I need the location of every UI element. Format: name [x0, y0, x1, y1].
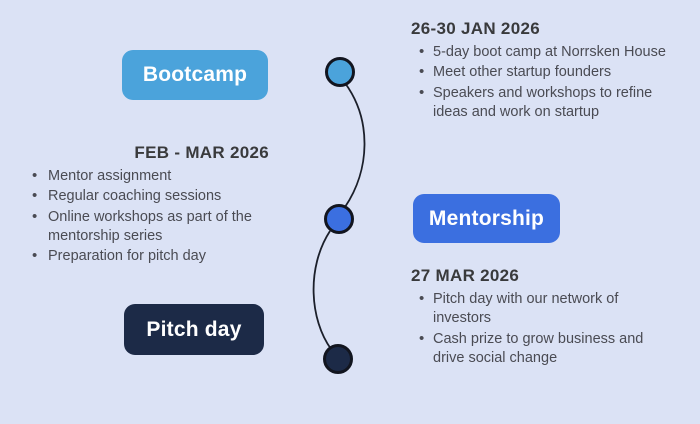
pitch-day-badge-label: Pitch day — [146, 318, 241, 342]
mentorship-badge-label: Mentorship — [429, 207, 544, 231]
pitch-day-node — [323, 344, 353, 374]
list-item: Mentor assignment — [30, 167, 275, 186]
mentorship-badge[interactable]: Mentorship — [413, 194, 560, 243]
bootcamp-badge[interactable]: Bootcamp — [122, 50, 268, 100]
mentorship-node — [324, 204, 354, 234]
list-item: Online workshops as part of the mentorsh… — [30, 208, 275, 246]
bootcamp-date-heading: 26-30 JAN 2026 — [411, 18, 673, 39]
bootcamp-node — [325, 57, 355, 87]
bootcamp-bullet-list: 5-day boot camp at Norrsken House Meet o… — [411, 43, 673, 122]
list-item: Pitch day with our network of investors — [411, 290, 673, 328]
list-item: 5-day boot camp at Norrsken House — [411, 43, 673, 62]
list-item: Cash prize to grow business and drive so… — [411, 330, 673, 368]
pitch-day-details: 27 MAR 2026 Pitch day with our network o… — [411, 265, 673, 369]
bootcamp-badge-label: Bootcamp — [143, 63, 247, 87]
list-item: Regular coaching sessions — [30, 187, 275, 206]
mentorship-date-heading: FEB - MAR 2026 — [30, 142, 275, 163]
mentorship-details: FEB - MAR 2026 Mentor assignment Regular… — [30, 142, 275, 267]
pitch-day-bullet-list: Pitch day with our network of investors … — [411, 290, 673, 368]
timeline-infographic: Bootcamp Pitch day Mentorship FEB - MAR … — [0, 0, 700, 424]
pitch-day-badge[interactable]: Pitch day — [124, 304, 264, 355]
mentorship-bullet-list: Mentor assignment Regular coaching sessi… — [30, 167, 275, 266]
list-item: Meet other startup founders — [411, 63, 673, 82]
pitch-day-date-heading: 27 MAR 2026 — [411, 265, 673, 286]
list-item: Speakers and workshops to refine ideas a… — [411, 84, 673, 122]
list-item: Preparation for pitch day — [30, 247, 275, 266]
bootcamp-details: 26-30 JAN 2026 5-day boot camp at Norrsk… — [411, 18, 673, 123]
